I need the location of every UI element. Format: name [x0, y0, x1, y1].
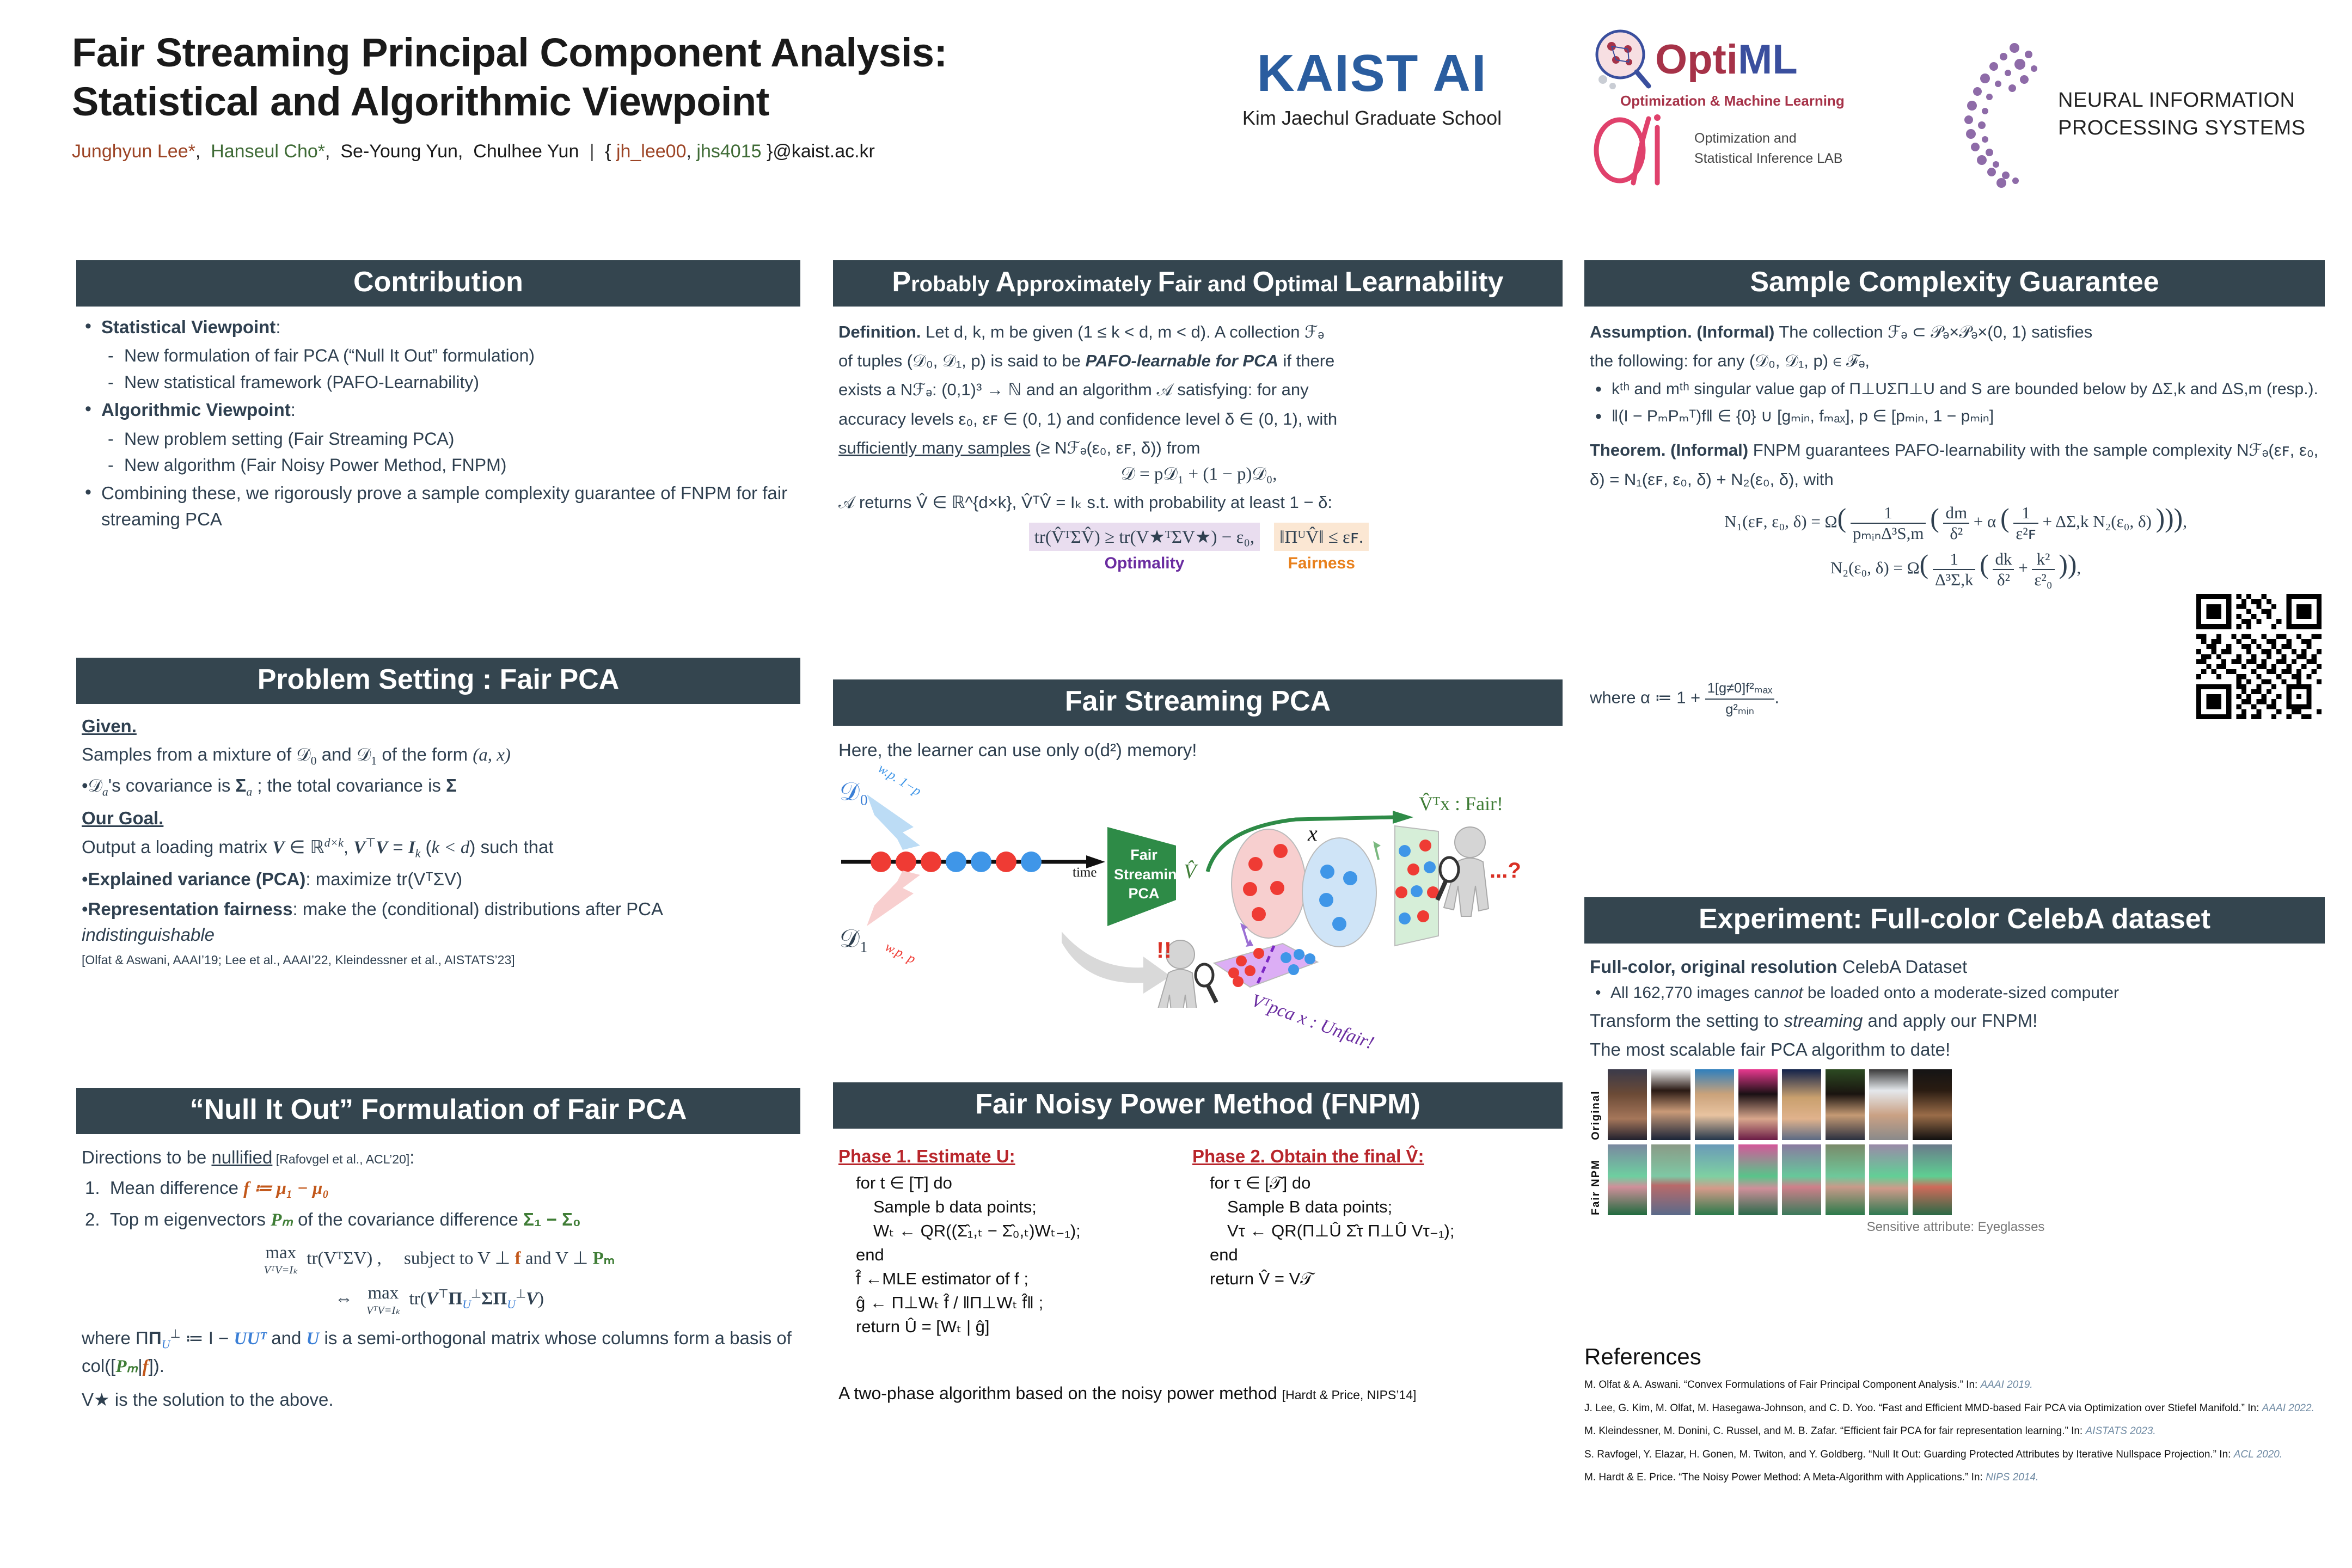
n1-dm-den: δ² — [1943, 524, 1969, 543]
n1-outer-den: pₘᵢₙΔ³S,m — [1851, 524, 1926, 543]
alpha-definition: where α ≔ 1 + 1[g≠0]f²ₘₐₓg²ₘᵢₙ. — [1590, 678, 1779, 719]
list-item: New statistical framework (PAFO-Learnabi… — [79, 370, 797, 395]
sufficient-samples-underlined: sufficiently many samples — [838, 438, 1031, 457]
alpha-suffix: . — [1774, 688, 1779, 707]
phase1-line-3: end — [838, 1243, 1176, 1267]
eq1-objective: tr(VᵀΣV) , — [307, 1249, 381, 1269]
n1-eps-den: ε²ꜰ — [2013, 524, 2038, 543]
eq1-and: and V ⊥ — [521, 1249, 593, 1269]
memory-note: Here, the learner can use only o(d²) mem… — [838, 738, 1559, 763]
phase2-line-2: Vτ ← QR(Π⊥Û Σ̂τ Π⊥Û Vτ₋₁); — [1192, 1219, 1530, 1243]
nullitout-where: where ΠΠU⊥ ≔ I − UUᵀ and U is a semi-ort… — [82, 1326, 797, 1379]
nullified-item-2: 2. Top m eigenvectors Pₘ of the covarian… — [82, 1207, 797, 1233]
reference-year: 2022. — [2286, 1402, 2314, 1414]
eq2-iff: ⇔ — [335, 1289, 353, 1309]
celeba-cell — [1651, 1144, 1690, 1215]
author-4: Chulhee Yun — [473, 141, 579, 162]
nullitout-vstar: V★ is the solution to the above. — [82, 1387, 797, 1413]
n2-k2-den: ε²₀ — [2032, 570, 2054, 590]
nullified-item-2-sigma: Σ₁ − Σ₀ — [523, 1209, 581, 1229]
list-item: Statistical Viewpoint: — [79, 314, 797, 340]
theorem-line: Theorem. (Informal) FNPM guarantees PAFO… — [1590, 436, 2322, 494]
equation-n1-lhs: N₁(εꜰ, ε₀, δ) = Ω — [1724, 512, 1837, 531]
fair-streaming-heading: Fair Streaming PCA — [833, 679, 1563, 726]
phase2-title: Phase 2. — [1192, 1146, 1265, 1166]
eq2-max: max — [366, 1283, 400, 1303]
list-item: M. Olfat & A. Aswani. “Convex Formulatio… — [1584, 1377, 2325, 1393]
phase1-subtitle: Estimate U: — [911, 1146, 1015, 1166]
eq1-max: max — [264, 1243, 298, 1263]
fair-streaming-diagram: 𝒟₀ w.p. 1−p 𝒟₁ w.p. p time Fair Streamin… — [838, 763, 1559, 1013]
page-title-line2: Statistical and Algorithmic Viewpoint — [72, 77, 1161, 126]
reference-venue: AAAI — [1981, 1379, 2004, 1391]
list-item: J. Lee, G. Kim, M. Olfat, M. Hasegawa-Jo… — [1584, 1401, 2325, 1417]
phase2-line-0: for τ ∈ [𝒯] do — [1192, 1171, 1530, 1195]
fairness-group: ‖ΠᵁV̂‖ ≤ εꜰ. Fairness — [1274, 523, 1369, 573]
experiment-line2-a: Transform the setting to — [1590, 1010, 1784, 1031]
references-title: References — [1584, 1344, 2325, 1370]
panel-sample-complexity: Sample Complexity Guarantee Assumption. … — [1584, 260, 2325, 719]
experiment-line2-b: and apply our FNPM! — [1863, 1010, 2037, 1031]
experiment-heading: Experiment: Full-color CelebA dataset — [1584, 897, 2325, 944]
celeba-grid: Original Fair NPM — [1590, 1069, 2322, 1235]
celeba-cell — [1869, 1144, 1908, 1215]
celeba-cell — [1913, 1069, 1952, 1140]
celeba-row-fairnpm: Fair NPM — [1590, 1144, 2322, 1215]
assumption-line1: Assumption. (Informal) The collection ℱₔ… — [1590, 317, 2322, 346]
eq1-f: f — [515, 1249, 521, 1269]
author-email-separator: | — [584, 141, 600, 162]
list-item: New algorithm (Fair Noisy Power Method, … — [79, 452, 797, 477]
assumption-text-1: The collection ℱₔ ⊂ 𝒫ₔ×𝒫ₔ×(0, 1) satisfi… — [1774, 322, 2092, 341]
fair-streaming-body: Here, the learner can use only o(d²) mem… — [833, 726, 1563, 1014]
equation-n2-lhs: N₂(ε₀, δ) = Ω — [1830, 558, 1920, 577]
representation-fairness-bullet: •Representation fairness: make the (cond… — [82, 897, 797, 948]
phase1-title: Phase 1. — [838, 1146, 911, 1166]
where-bar: | — [138, 1356, 143, 1376]
theorem-label: Theorem. (Informal) — [1590, 440, 1748, 460]
logo-bar: KAIST AI Kim Jaechul Graduate School — [1160, 22, 2325, 207]
list-item: ‖(I − PₘPₘᵀ)f‖ ∈ {0} ∪ [gₘᵢₙ, fₘₐₓ], p ∈… — [1590, 405, 2322, 428]
fairness-label: Fairness — [1274, 554, 1369, 573]
nullified-item-2-text-b: of the covariance difference — [293, 1209, 523, 1229]
nullified-item-1-num: 1. — [85, 1178, 100, 1198]
contribution-heading: Contribution — [76, 260, 800, 307]
nullified-item-1-math: f ≔ μ₁ − μ₀ — [243, 1179, 329, 1198]
phase2-line-1: Sample B data points; — [1192, 1195, 1530, 1219]
email-2: jhs4015 — [696, 141, 761, 162]
panel-experiment: Experiment: Full-color CelebA dataset Fu… — [1584, 897, 2325, 1235]
n2-outer-num: 1 — [1933, 549, 1976, 570]
n1-outer-num: 1 — [1851, 503, 1926, 524]
reference-year: 2020. — [2253, 1449, 2282, 1460]
phase2-lines: for τ ∈ [𝒯] do Sample B data points; Vτ … — [1192, 1171, 1530, 1291]
phase1-line-6: return Û = [Wₜ | ĝ] — [838, 1315, 1176, 1339]
given-statement: Samples from a mixture of 𝒟0 and 𝒟1 of t… — [82, 742, 797, 770]
definition-line1: Let d, k, m be given (1 ≤ k < d, m < d).… — [921, 322, 1324, 341]
optimality-equation: tr(V̂ᵀΣV̂) ≥ tr(V★ᵀΣV★) − ε₀, — [1029, 523, 1260, 551]
title-block: Fair Streaming Principal Component Analy… — [72, 28, 1161, 162]
neurips-logo-line2: PROCESSING SYSTEMS — [2058, 114, 2306, 142]
email-domain: }@kaist.ac.kr — [762, 141, 875, 162]
n2-outer-den: Δ³Σ,k — [1933, 570, 1976, 590]
reference-text: S. Ravfogel, Y. Elazar, H. Gonen, M. Twi… — [1584, 1449, 2234, 1460]
list-item: Combining these, we rigorously prove a s… — [79, 480, 797, 532]
pafo-heading-and: and — [1208, 272, 1252, 296]
where-u: U — [307, 1329, 320, 1349]
n1-dm-num: dm — [1943, 503, 1969, 524]
panel-null-it-out: “Null It Out” Formulation of Fair PCA Di… — [76, 1088, 800, 1412]
diagram-box-line2: Streaming — [1114, 865, 1174, 884]
covariance-bullet: •𝒟a's covariance is Σa ; the total covar… — [82, 773, 797, 801]
reference-year: 2014. — [2010, 1472, 2038, 1483]
nullified-item-2-text-a: Top m eigenvectors — [110, 1209, 271, 1229]
reference-year: 2019. — [2004, 1379, 2033, 1391]
experiment-line3: The most scalable fair PCA algorithm to … — [1590, 1037, 2322, 1063]
contribution-body: Statistical Viewpoint: New formulation o… — [76, 307, 800, 532]
page-title-line1: Fair Streaming Principal Component Analy… — [72, 28, 1161, 77]
phase1-line-1: Sample b data points; — [838, 1195, 1176, 1219]
kaist-logo-subtitle: Kim Jaechul Graduate School — [1181, 107, 1563, 130]
list-item: kᵗʰ and mᵗʰ singular value gap of Π⊥UΣΠ⊥… — [1590, 377, 2322, 401]
celeba-cell — [1782, 1069, 1821, 1140]
optiml-logo-subtitle: Optimization & Machine Learning — [1620, 93, 1895, 109]
n2-k2-num: k² — [2032, 549, 2054, 570]
mixture-equation: 𝒟 = p𝒟₁ + (1 − p)𝒟₀, — [838, 464, 1559, 485]
phase1-lines: for t ∈ [T] do Sample b data points; Wₜ … — [838, 1171, 1176, 1339]
celeba-cell — [1738, 1069, 1778, 1140]
nullitout-equation-2: ⇔ max VᵀV=Iₖ tr(V⊤ΠU⊥ΣΠU⊥V) — [82, 1283, 797, 1317]
pafo-heading-air: air — [1175, 272, 1208, 296]
experiment-body: Full-color, original resolution CelebA D… — [1584, 944, 2325, 1235]
problem-setting-citation: [Olfat & Aswani, AAAI’19; Lee et al., AA… — [82, 953, 797, 967]
osi-mark-icon — [1590, 108, 1682, 189]
diagram-label-x: x — [1308, 820, 1318, 846]
representation-fairness-label: Representation fairness — [88, 899, 293, 919]
problem-setting-heading: Problem Setting : Fair PCA — [76, 658, 800, 704]
where-b: ≔ I − — [180, 1328, 234, 1348]
experiment-line2-italic: streaming — [1784, 1010, 1863, 1031]
where-c: and — [266, 1328, 306, 1348]
eq2-constraint: VᵀV=Iₖ — [366, 1303, 400, 1317]
eq1-pm: Pₘ — [593, 1249, 615, 1269]
optiml-magnifier-icon — [1590, 27, 1655, 91]
null-it-out-heading: “Null It Out” Formulation of Fair PCA — [76, 1088, 800, 1134]
author-2: Hanseul Cho* — [211, 141, 325, 162]
celeba-cell — [1782, 1144, 1821, 1215]
osi-logo: Optimization and Statistical Inference L… — [1590, 108, 1916, 189]
explained-variance-label: Explained variance (PCA) — [88, 869, 306, 889]
pafo-heading-learnability: Learnability — [1345, 266, 1504, 298]
celeba-row-label-fairnpm: Fair NPM — [1590, 1144, 1602, 1215]
reference-text: M. Olfat & A. Aswani. “Convex Formulatio… — [1584, 1379, 1981, 1391]
equation-n2: N₂(ε₀, δ) = Ω( 1Δ³Σ,k ( dkδ² + k²ε²₀ )), — [1590, 549, 2322, 590]
diagram-label-vhat: V̂ — [1184, 860, 1196, 884]
definition-line2: of tuples (𝒟₀, 𝒟₁, p) is said to be PAFO… — [838, 346, 1559, 375]
alpha-den: g²ₘᵢₙ — [1705, 700, 1775, 719]
definition-line5-rest: (≥ Nℱₔ(ε₀, εꜰ, δ)) from — [1031, 438, 1200, 457]
experiment-line1-bold: Full-color, original resolution — [1590, 957, 1837, 977]
email-1: jh_lee00 — [616, 141, 687, 162]
diagram-label-d0: 𝒟₀ — [840, 777, 868, 807]
list-item: Algorithmic Viewpoint: — [79, 397, 797, 423]
optiml-logo-opti: Opti — [1655, 36, 1738, 83]
representation-fairness-italic: indistinguishable — [82, 924, 215, 945]
given-text-c: of the form — [377, 744, 473, 764]
nullified-intro-a: Directions to be — [82, 1147, 211, 1167]
goal-statement: Output a loading matrix V ∈ ℝd×k, V⊤V = … — [82, 835, 797, 862]
fnpm-heading: Fair Noisy Power Method (FNPM) — [833, 1082, 1563, 1129]
pafo-heading-f: F — [1157, 266, 1175, 298]
celeba-cell — [1695, 1144, 1734, 1215]
assumption-line2: the following: for any (𝒟₀, 𝒟₁, p) ∈ ℱₔ, — [1590, 346, 2322, 375]
fnpm-phases: Phase 1. Estimate U: for t ∈ [T] do Samp… — [838, 1146, 1559, 1339]
alpha-prefix: where α ≔ 1 + — [1590, 688, 1700, 707]
reference-text: M. Kleindessner, M. Donini, C. Russel, a… — [1584, 1425, 2086, 1437]
eq1-constraint: VᵀV=Iₖ — [264, 1263, 298, 1277]
phase2-subtitle: Obtain the final V̂: — [1265, 1146, 1424, 1166]
pafo-heading-pproximately: pproximately — [1016, 272, 1157, 296]
optimality-group: tr(V̂ᵀΣV̂) ≥ tr(V★ᵀΣV★) − ε₀, Optimality — [1029, 523, 1260, 573]
pafo-heading-ptimal: ptimal — [1275, 272, 1345, 296]
neurips-logo-text: NEURAL INFORMATION PROCESSING SYSTEMS — [2058, 87, 2306, 143]
celeba-cell — [1608, 1069, 1647, 1140]
equation-n1: N₁(εꜰ, ε₀, δ) = Ω( 1pₘᵢₙΔ³S,m ( dmδ² + α… — [1590, 503, 2322, 543]
diagram-box-label: Fair Streaming PCA — [1114, 846, 1174, 903]
diagram-box-line3: PCA — [1114, 884, 1174, 903]
pafo-body: Definition. Let d, k, m be given (1 ≤ k … — [833, 307, 1563, 573]
osi-logo-text: Optimization and Statistical Inference L… — [1694, 128, 1842, 169]
pafo-learnable-term: PAFO-learnable for PCA — [1086, 351, 1278, 370]
reference-venue: AAAI — [2262, 1402, 2286, 1414]
reference-year: 2023. — [2127, 1425, 2156, 1437]
reference-venue: ACL — [2234, 1449, 2254, 1460]
contribution-item-0-suffix: : — [275, 317, 280, 337]
fnpm-footer-text: A two-phase algorithm based on the noisy… — [838, 1383, 1282, 1403]
celeba-cell — [1913, 1144, 1952, 1215]
contribution-item-1-label: Algorithmic Viewpoint — [101, 400, 291, 420]
experiment-bullet-b: be loaded onto a moderate-sized computer — [1803, 984, 2119, 1002]
osi-logo-line2: Statistical Inference LAB — [1694, 149, 1842, 169]
nullified-intro: Directions to be nullified [Rafovgel et … — [82, 1145, 797, 1171]
author-3: Se-Young Yun — [340, 141, 458, 162]
diagram-label-fair: V̂ᵀx : Fair! — [1419, 792, 1503, 815]
celeba-row-label-original: Original — [1590, 1069, 1602, 1140]
n2-dk-num: dk — [1993, 549, 2014, 570]
pafo-heading-a: A — [996, 266, 1016, 298]
definition-line4: accuracy levels ε₀, εꜰ ∈ (0, 1) and conf… — [838, 405, 1559, 433]
optiml-logo: OptiML Optimization & Machine Learning — [1590, 27, 1895, 109]
celeba-cell — [1826, 1069, 1865, 1140]
where-a: where Π — [82, 1328, 149, 1348]
references-list: M. Olfat & A. Aswani. “Convex Formulatio… — [1584, 1377, 2325, 1486]
alpha-and-qr-row: where α ≔ 1 + 1[g≠0]f²ₘₐₓg²ₘᵢₙ. — [1590, 594, 2322, 719]
reference-text: M. Hardt & E. Price. “The Noisy Power Me… — [1584, 1472, 1986, 1483]
phase1-title-row: Phase 1. Estimate U: — [838, 1146, 1176, 1167]
poster-root: Fair Streaming Principal Component Analy… — [0, 0, 2352, 1568]
qr-code-icon[interactable] — [2196, 594, 2322, 719]
experiment-line2: Transform the setting to streaming and a… — [1590, 1008, 2322, 1034]
reference-text: J. Lee, G. Kim, M. Olfat, M. Hasegawa-Jo… — [1584, 1402, 2262, 1414]
null-it-out-body: Directions to be nullified [Rafovgel et … — [76, 1134, 800, 1413]
fnpm-body: Phase 1. Estimate U: for t ∈ [T] do Samp… — [833, 1129, 1563, 1406]
nullified-keyword: nullified — [211, 1147, 272, 1167]
given-label: Given. — [82, 714, 797, 739]
fnpm-footer: A two-phase algorithm based on the noisy… — [838, 1381, 1559, 1406]
n1-tail: + ΔΣ,k N₂(ε₀, δ) — [2043, 512, 2152, 531]
experiment-line1: Full-color, original resolution CelebA D… — [1590, 954, 2322, 980]
panel-pafo: Probably Approximately Fair and Optimal … — [833, 260, 1563, 573]
definition-line2-a: of tuples (𝒟₀, 𝒟₁, p) is said to be — [838, 351, 1086, 370]
celeba-cell — [1695, 1069, 1734, 1140]
definition-line5: sufficiently many samples (≥ Nℱₔ(ε₀, εꜰ,… — [838, 433, 1559, 462]
n2-dk-den: δ² — [1993, 570, 2014, 590]
list-item: New formulation of fair PCA (“Null It Ou… — [79, 343, 797, 368]
panel-problem-setting: Problem Setting : Fair PCA Given. Sample… — [76, 658, 800, 967]
goal-label: Our Goal. — [82, 806, 797, 831]
diagram-label-time: time — [1073, 865, 1097, 880]
contribution-item-1-suffix: : — [291, 400, 296, 420]
phase1-line-0: for t ∈ [T] do — [838, 1171, 1176, 1195]
problem-setting-body: Given. Samples from a mixture of 𝒟0 and … — [76, 704, 800, 968]
kaist-logo: KAIST AI Kim Jaechul Graduate School — [1181, 44, 1563, 130]
phase1-line-5: ĝ ← Π⊥Wₜ f̂ / ‖Π⊥Wₜ f̂‖ ; — [838, 1291, 1176, 1315]
celeba-cell — [1608, 1144, 1647, 1215]
neurips-logo: NEURAL INFORMATION PROCESSING SYSTEMS — [1933, 38, 2314, 191]
experiment-bullet-a: All 162,770 images can — [1610, 984, 1780, 1002]
phase1-line-4: f̂ ←MLE estimator of f ; — [838, 1267, 1176, 1291]
diagram-label-question: ...? — [1490, 859, 1521, 883]
celeba-cell — [1869, 1069, 1908, 1140]
contribution-item-0-label: Statistical Viewpoint — [101, 317, 275, 337]
given-text-a: Samples from a mixture of — [82, 744, 296, 764]
list-item: M. Hardt & E. Price. “The Noisy Power Me… — [1584, 1470, 2325, 1486]
phase2-line-3: end — [1192, 1243, 1530, 1267]
list-item: S. Ravfogel, Y. Elazar, H. Gonen, M. Twi… — [1584, 1447, 2325, 1463]
pafo-heading-p: P — [892, 266, 911, 298]
given-text-b: and — [317, 744, 357, 764]
celeba-cell — [1651, 1069, 1690, 1140]
sample-complexity-body: Assumption. (Informal) The collection ℱₔ… — [1584, 307, 2325, 719]
list-item: New problem setting (Fair Streaming PCA) — [79, 426, 797, 451]
reference-venue: AISTATS — [2086, 1425, 2127, 1437]
celeba-row-original: Original — [1590, 1069, 2322, 1140]
nullified-item-2-pm: Pₘ — [271, 1210, 293, 1230]
nullified-item-1: 1. Mean difference f ≔ μ₁ − μ₀ — [82, 1175, 797, 1202]
diagram-label-d1: 𝒟₁ — [840, 924, 868, 954]
fnpm-phase-1: Phase 1. Estimate U: for t ∈ [T] do Samp… — [838, 1146, 1176, 1339]
alpha-num: 1[g≠0]f²ₘₐₓ — [1705, 678, 1775, 699]
eq1-subject-to: subject to V ⊥ — [404, 1249, 515, 1269]
celeba-caption: Sensitive attribute: Eyeglasses — [1590, 1220, 2322, 1235]
explained-variance-text: : maximize tr(VᵀΣV) — [305, 869, 462, 889]
phase1-line-2: Wₜ ← QR((Σ̂₁,ₜ − Σ̂₀,ₜ)Wₜ₋₁); — [838, 1219, 1176, 1243]
pafo-heading-o: O — [1252, 266, 1274, 298]
pafo-heading: Probably Approximately Fair and Optimal … — [833, 260, 1563, 307]
experiment-line1-rest: CelebA Dataset — [1837, 957, 1967, 977]
experiment-bullet-italic: not — [1780, 984, 1803, 1002]
neurips-dots-icon — [1933, 38, 2053, 191]
email-open-brace: { — [605, 141, 616, 162]
nullified-item-2-num: 2. — [85, 1209, 100, 1229]
celeba-cell — [1738, 1144, 1778, 1215]
definition-line2-c: if there — [1278, 351, 1334, 370]
phase2-title-row: Phase 2. Obtain the final V̂: — [1192, 1146, 1530, 1167]
panel-contribution: Contribution Statistical Viewpoint: New … — [76, 260, 800, 536]
nullitout-equation-1: max VᵀV=Iₖ tr(VᵀΣV) , subject to V ⊥ f a… — [82, 1243, 797, 1277]
nullified-item-1-text: Mean difference — [110, 1178, 243, 1198]
author-line: Junghyun Lee*, Hanseul Cho*, Se-Young Yu… — [72, 141, 1161, 162]
osi-logo-line1: Optimization and — [1694, 128, 1842, 149]
pafo-heading-robably: robably — [911, 272, 996, 296]
fairness-equation: ‖ΠᵁV̂‖ ≤ εꜰ. — [1274, 523, 1369, 551]
nullified-intro-b: : — [409, 1147, 414, 1167]
kaist-logo-wordmark: KAIST AI — [1181, 44, 1563, 103]
author-1: Junghyun Lee* — [72, 141, 195, 162]
panel-fair-streaming-pca: Fair Streaming PCA Here, the learner can… — [833, 679, 1563, 1013]
experiment-bullet: •All 162,770 images cannot be loaded ont… — [1590, 982, 2322, 1005]
sample-complexity-heading: Sample Complexity Guarantee — [1584, 260, 2325, 307]
panel-references: References M. Olfat & A. Aswani. “Convex… — [1584, 1344, 2325, 1486]
definition-line3: exists a Nℱₔ: (0,1)³ → ℕ and an algorith… — [838, 375, 1559, 404]
fnpm-footer-citation: [Hardt & Price, NIPS’14] — [1282, 1388, 1417, 1402]
representation-fairness-text: : make the (conditional) distributions a… — [293, 899, 663, 919]
diagram-box-line1: Fair — [1114, 846, 1174, 865]
n1-eps-num: 1 — [2013, 503, 2038, 524]
list-item: M. Kleindessner, M. Donini, C. Russel, a… — [1584, 1424, 2325, 1440]
panel-fnpm: Fair Noisy Power Method (FNPM) Phase 1. … — [833, 1082, 1563, 1406]
where-e: ]). — [149, 1356, 164, 1376]
n1-alpha-term: + α — [1974, 512, 1996, 531]
where-f: f — [143, 1357, 149, 1376]
pafo-guarantee-row: tr(V̂ᵀΣV̂) ≥ tr(V★ᵀΣV★) − ε₀, Optimality… — [838, 523, 1559, 573]
explained-variance-bullet: •Explained variance (PCA): maximize tr(V… — [82, 867, 797, 892]
diagram-label-exclaim: !! — [1156, 937, 1172, 963]
phase2-line-4: return V̂ = V𝒯 — [1192, 1267, 1530, 1291]
assumption-label: Assumption. (Informal) — [1590, 322, 1774, 341]
optimality-label: Optimality — [1029, 554, 1260, 573]
where-uut: UUᵀ — [234, 1329, 267, 1349]
definition-label: Definition. — [838, 322, 921, 341]
neurips-logo-line1: NEURAL INFORMATION — [2058, 87, 2306, 114]
optiml-logo-ml: ML — [1738, 36, 1798, 83]
celeba-cell — [1826, 1144, 1865, 1215]
nullified-citation: [Rafovgel et al., ACL’20] — [272, 1152, 409, 1166]
reference-venue: NIPS — [1986, 1472, 2010, 1483]
where-pm: Pₘ — [115, 1357, 138, 1376]
algorithm-returns-line: 𝒜 returns V̂ ∈ ℝ^{d×k}, V̂ᵀV̂ = Iₖ s.t. … — [838, 489, 1559, 516]
fnpm-phase-2: Phase 2. Obtain the final V̂: for τ ∈ [𝒯… — [1192, 1146, 1530, 1339]
pafo-definition: Definition. Let d, k, m be given (1 ≤ k … — [838, 317, 1559, 346]
